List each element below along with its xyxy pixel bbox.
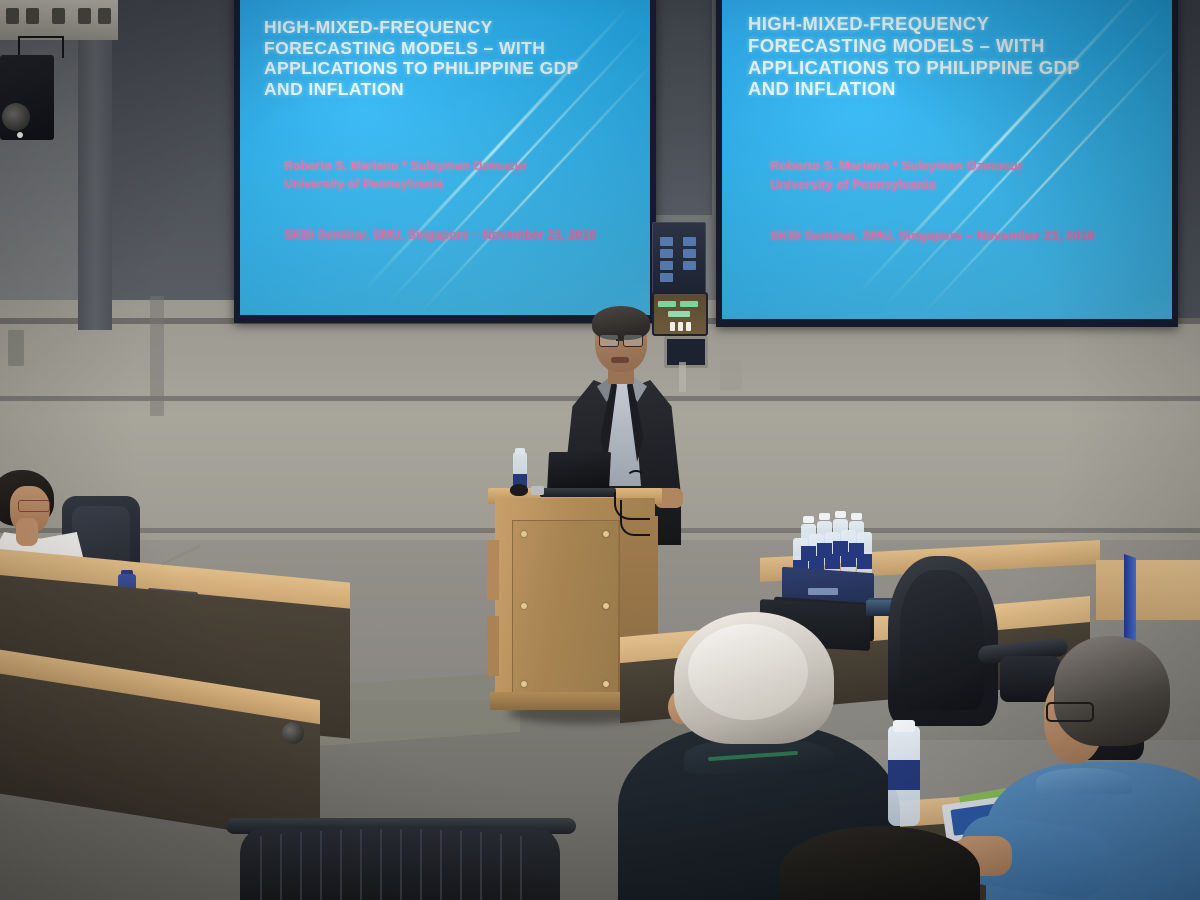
chair-mesh-line xyxy=(260,836,262,900)
chair-mesh-line xyxy=(320,831,322,900)
bottle-cap xyxy=(803,516,814,523)
chair-mesh-line xyxy=(460,831,462,900)
slide-author-line: Roberto S. Mariano * Suleyman Ozmucur xyxy=(770,157,1130,176)
chair-mesh-line xyxy=(380,829,382,900)
slide-affiliation-line: University of Pennsylvania xyxy=(770,176,1130,195)
projection-screen-right: HIGH-MIXED-FREQUENCY FORECASTING MODELS … xyxy=(716,0,1178,327)
podium-screw xyxy=(603,531,609,537)
slide-right: HIGH-MIXED-FREQUENCY FORECASTING MODELS … xyxy=(722,0,1172,319)
eyeglasses-icon xyxy=(18,500,50,512)
bottle-label xyxy=(817,543,832,558)
slide-author-line: Roberto S. Mariano * Suleyman Ozmucur xyxy=(284,157,624,175)
chair-mesh-line xyxy=(520,836,522,900)
bottle-cap xyxy=(835,511,846,518)
slide-title: HIGH-MIXED-FREQUENCY FORECASTING MODELS … xyxy=(264,17,594,100)
chair-mesh-line xyxy=(500,834,502,900)
slide-venue: SKBI Seminar, SMU, Singapore – November … xyxy=(284,227,614,244)
water-bottle-cap xyxy=(515,448,525,454)
ceiling-outlet xyxy=(98,8,111,24)
presenter-laptop-keyboard[interactable] xyxy=(540,488,616,497)
cable-adapter xyxy=(531,486,544,495)
slide-venue: SKBI Seminar, SMU, Singapore – November … xyxy=(770,227,1120,245)
chair-mesh-line xyxy=(420,829,422,900)
speaker-bracket xyxy=(18,36,64,38)
desk-caster-wheel xyxy=(282,722,304,744)
wall-seam-left xyxy=(150,296,164,416)
chair-mesh-back xyxy=(900,570,984,710)
speaker-led xyxy=(17,132,23,138)
foreground-mesh-chair xyxy=(240,826,560,900)
eyeglasses-icon xyxy=(623,334,643,347)
bottle-label xyxy=(849,543,864,558)
chair-mesh-line xyxy=(480,832,482,900)
bottle-cap xyxy=(819,513,830,520)
projection-screen-left: HIGH-MIXED-FREQUENCY FORECASTING MODELS … xyxy=(234,0,656,323)
podium-ledge xyxy=(487,540,499,600)
attendee-hair xyxy=(1054,636,1170,746)
wall-light-switch[interactable] xyxy=(8,330,24,366)
wall-column-left xyxy=(78,0,112,330)
ceiling-service-rail xyxy=(0,0,118,40)
slide-left: HIGH-MIXED-FREQUENCY FORECASTING MODELS … xyxy=(240,0,650,315)
bottle-label xyxy=(833,541,848,556)
podium-cable xyxy=(626,470,646,488)
wall-outlet-plate xyxy=(720,360,742,390)
av-touch-label[interactable] xyxy=(680,301,698,307)
slide-title: HIGH-MIXED-FREQUENCY FORECASTING MODELS … xyxy=(748,13,1108,100)
wall-av-control-panel[interactable] xyxy=(652,222,706,294)
slide-affiliation-line: University of Pennsylvania xyxy=(284,175,624,193)
seminar-room-photo: HIGH-MIXED-FREQUENCY FORECASTING MODELS … xyxy=(0,0,1200,900)
chair-mesh-line xyxy=(400,829,402,900)
eyeglasses-icon xyxy=(1046,702,1094,722)
computer-mouse[interactable] xyxy=(510,484,528,496)
chair-mesh-line xyxy=(300,832,302,900)
podium-screw xyxy=(521,603,527,609)
ceiling-outlet xyxy=(26,8,39,24)
av-button[interactable] xyxy=(683,237,696,246)
podium-screw xyxy=(521,531,527,537)
desk-surface-far-right xyxy=(1096,560,1200,620)
av-button[interactable] xyxy=(660,261,673,270)
eyeglasses-bridge xyxy=(616,339,624,341)
av-button[interactable] xyxy=(683,261,696,270)
podium-ledge xyxy=(487,616,499,676)
attendee-collar xyxy=(1036,768,1132,794)
bottle-label xyxy=(801,546,816,561)
podium-cable xyxy=(620,500,650,536)
av-button[interactable] xyxy=(660,273,673,282)
speaker-cone xyxy=(2,103,30,131)
av-button[interactable] xyxy=(660,237,673,246)
speaker-bracket xyxy=(62,36,64,58)
podium-front-panel xyxy=(512,520,620,698)
ceiling-outlet xyxy=(6,8,19,24)
bottle-cap xyxy=(893,720,915,732)
ceiling-outlet xyxy=(78,8,91,24)
chair-mesh-line xyxy=(280,834,282,900)
attendee-hair-highlight xyxy=(688,624,808,720)
chair-mesh-line xyxy=(340,830,342,900)
av-button[interactable] xyxy=(660,249,673,258)
podium-screw xyxy=(521,681,527,687)
chair-mesh-line xyxy=(440,830,442,900)
chair-mesh-line xyxy=(360,829,362,900)
acoustic-panel-left xyxy=(112,0,240,300)
ceiling-outlet xyxy=(52,8,65,24)
podium-screw xyxy=(603,603,609,609)
slide-authors: Roberto S. Mariano * Suleyman Ozmucur Un… xyxy=(284,157,624,193)
bottle-cap xyxy=(851,513,862,520)
attendee-hand xyxy=(16,518,38,546)
tote-bag-logo xyxy=(808,588,838,595)
slide-authors: Roberto S. Mariano * Suleyman Ozmucur Un… xyxy=(770,157,1130,195)
av-button[interactable] xyxy=(683,249,696,258)
av-touch-label[interactable] xyxy=(658,301,676,307)
bottle-label xyxy=(888,760,920,790)
seated-attendee-blue-shirt xyxy=(1020,636,1200,900)
presenter-laptop-screen xyxy=(547,452,611,492)
presenter-mouth xyxy=(611,357,629,363)
podium-screw xyxy=(603,681,609,687)
